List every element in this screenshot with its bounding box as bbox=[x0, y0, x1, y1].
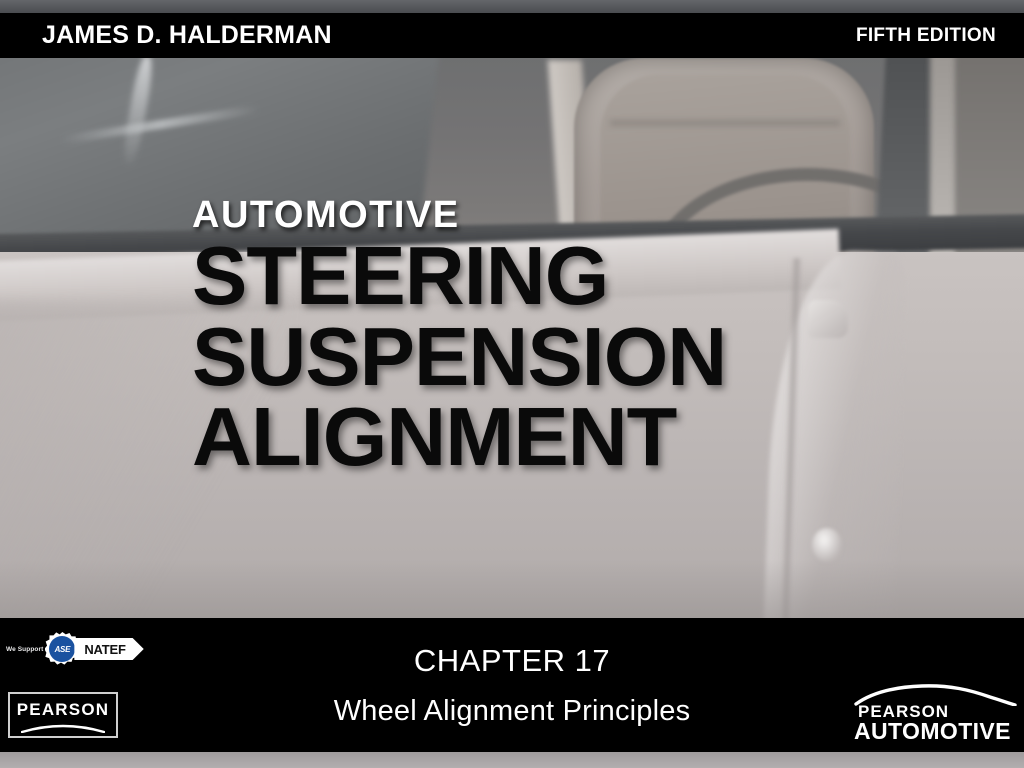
natef-support-text: We Support bbox=[6, 646, 43, 653]
bottom-edge-strip bbox=[0, 752, 1024, 768]
edition-label: FIFTH EDITION bbox=[856, 25, 996, 47]
top-edge-strip bbox=[0, 0, 1024, 13]
title-line-suspension: SUSPENSION bbox=[192, 317, 892, 398]
author-name: JAMES D. HALDERMAN bbox=[42, 21, 332, 50]
title-line-steering: STEERING bbox=[192, 236, 892, 317]
natef-label: NATEF bbox=[84, 642, 125, 657]
ase-badge-label: ASE bbox=[55, 645, 71, 654]
natef-logo: We Support ASE NATEF bbox=[6, 628, 130, 670]
pearson-arc-icon bbox=[21, 722, 105, 733]
chapter-number: CHAPTER 17 bbox=[414, 643, 610, 679]
photo-door-dimple bbox=[812, 528, 842, 562]
pearson-logo-label: PEARSON bbox=[17, 700, 109, 720]
pearson-logo: PEARSON bbox=[8, 692, 118, 738]
chapter-title: Wheel Alignment Principles bbox=[334, 695, 691, 728]
photo-seat-seam bbox=[610, 120, 840, 126]
natef-arrow-shape: NATEF bbox=[74, 638, 143, 660]
ase-badge-icon: ASE bbox=[45, 632, 79, 666]
title-slide: JAMES D. HALDERMAN FIFTH EDITION AUTOMOT… bbox=[0, 0, 1024, 768]
book-title-block: AUTOMOTIVE STEERING SUSPENSION ALIGNMENT bbox=[192, 196, 892, 478]
pearson-automotive-logo: PEARSON AUTOMOTIVE bbox=[852, 682, 1018, 742]
pearson-automotive-line2: AUTOMOTIVE bbox=[854, 718, 1011, 745]
title-line-alignment: ALIGNMENT bbox=[192, 397, 892, 478]
author-bar: JAMES D. HALDERMAN FIFTH EDITION bbox=[0, 13, 1024, 58]
